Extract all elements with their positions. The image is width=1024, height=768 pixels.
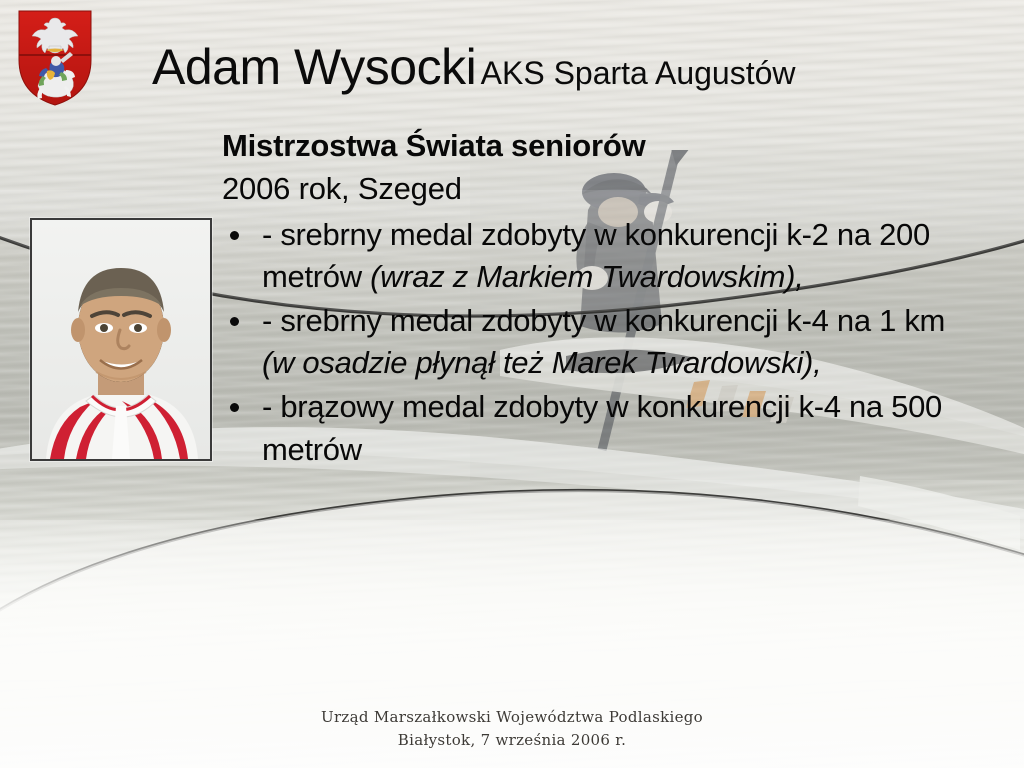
slide-title: Adam Wysocki AKS Sparta Augustów [152, 38, 992, 96]
athlete-name: Adam Wysocki [152, 39, 476, 95]
achievement-note: (wraz z Markiem Twardowskim), [370, 259, 803, 294]
achievement-note: (w osadzie płynął też Marek Twardowski), [262, 345, 821, 380]
slide-body: Mistrzostwa Świata seniorów 2006 rok, Sz… [222, 126, 982, 473]
footer-place-date: Białystok, 7 września 2006 r. [0, 729, 1024, 752]
championship-heading: Mistrzostwa Świata seniorów [222, 126, 982, 166]
slide-canvas: Adam Wysocki AKS Sparta Augustów [0, 0, 1024, 768]
athlete-club: AKS Sparta Augustów [481, 55, 796, 91]
achievements-list: - srebrny medal zdobyty w konkurencji k-… [222, 214, 982, 471]
list-item: - srebrny medal zdobyty w konkurencji k-… [222, 300, 982, 384]
footer-organisation: Urząd Marszałkowski Województwa Podlaski… [0, 706, 1024, 729]
slide-footer: Urząd Marszałkowski Województwa Podlaski… [0, 706, 1024, 753]
list-item: - brązowy medal zdobyty w konkurencji k-… [222, 386, 982, 470]
list-item: - srebrny medal zdobyty w konkurencji k-… [222, 214, 982, 298]
achievement-text: - srebrny medal zdobyty w konkurencji k-… [262, 303, 945, 338]
athlete-portrait-photo [30, 218, 212, 461]
podlaskie-coat-of-arms-icon [16, 8, 94, 108]
championship-subheading: 2006 rok, Szeged [222, 168, 982, 210]
achievement-text: - brązowy medal zdobyty w konkurencji k-… [262, 389, 942, 466]
